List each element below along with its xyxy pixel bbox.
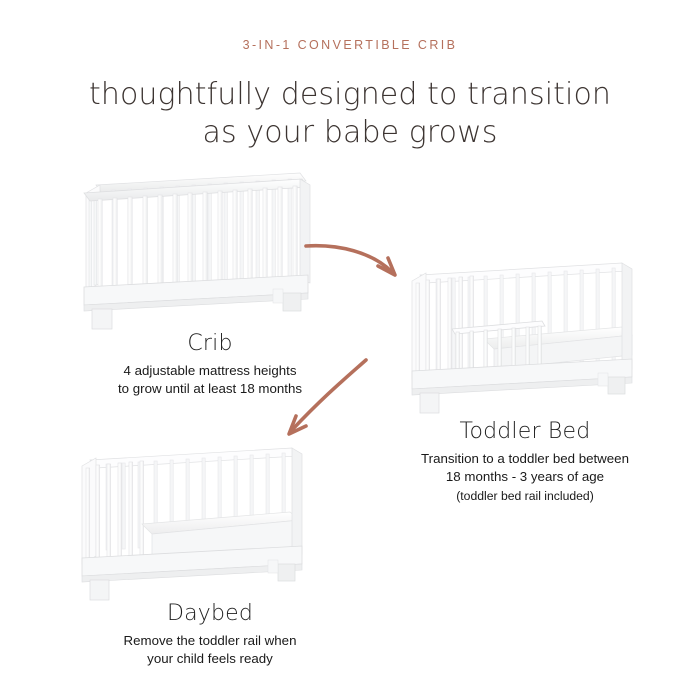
stage-desc-toddler-line-1: Transition to a toddler bed between xyxy=(421,451,629,466)
stage-title-daybed: Daybed xyxy=(40,600,380,628)
eyebrow-text: 3-IN-1 CONVERTIBLE CRIB xyxy=(0,38,700,52)
stage-desc-crib: 4 adjustable mattress heights to grow un… xyxy=(40,362,380,398)
stage-title-toddler-bed: Toddler Bed xyxy=(360,418,690,446)
page-title: thoughtfully designed to transition as y… xyxy=(0,76,700,152)
stage-desc-daybed-line-1: Remove the toddler rail when xyxy=(124,633,297,648)
stage-label-toddler-bed: Toddler Bed Transition to a toddler bed … xyxy=(360,418,690,505)
stage-desc-daybed: Remove the toddler rail when your child … xyxy=(40,632,380,668)
stage-desc-toddler-line-2: 18 months - 3 years of age xyxy=(446,469,604,484)
stage-desc-daybed-line-2: your child feels ready xyxy=(147,651,273,666)
stage-title-crib: Crib xyxy=(40,330,380,358)
headline-line-1: thoughtfully designed to transition xyxy=(89,77,611,112)
infographic-root: 3-IN-1 CONVERTIBLE CRIB thoughtfully des… xyxy=(0,0,700,700)
stage-label-daybed: Daybed Remove the toddler rail when your… xyxy=(40,600,380,668)
stage-label-crib: Crib 4 adjustable mattress heights to gr… xyxy=(40,330,380,398)
stage-desc-crib-line-1: 4 adjustable mattress heights xyxy=(124,363,297,378)
stage-desc-toddler-bed: Transition to a toddler bed between 18 m… xyxy=(360,450,690,505)
crib-product-image xyxy=(78,163,338,333)
stage-desc-toddler-line-3: (toddler bed rail included) xyxy=(360,487,690,505)
arrow-crib-to-toddler-icon xyxy=(300,226,410,286)
toddler-bed-product-image xyxy=(408,253,658,423)
headline-line-2: as your babe grows xyxy=(0,114,700,152)
daybed-product-image xyxy=(78,436,328,606)
stage-desc-crib-line-2: to grow until at least 18 months xyxy=(118,381,302,396)
